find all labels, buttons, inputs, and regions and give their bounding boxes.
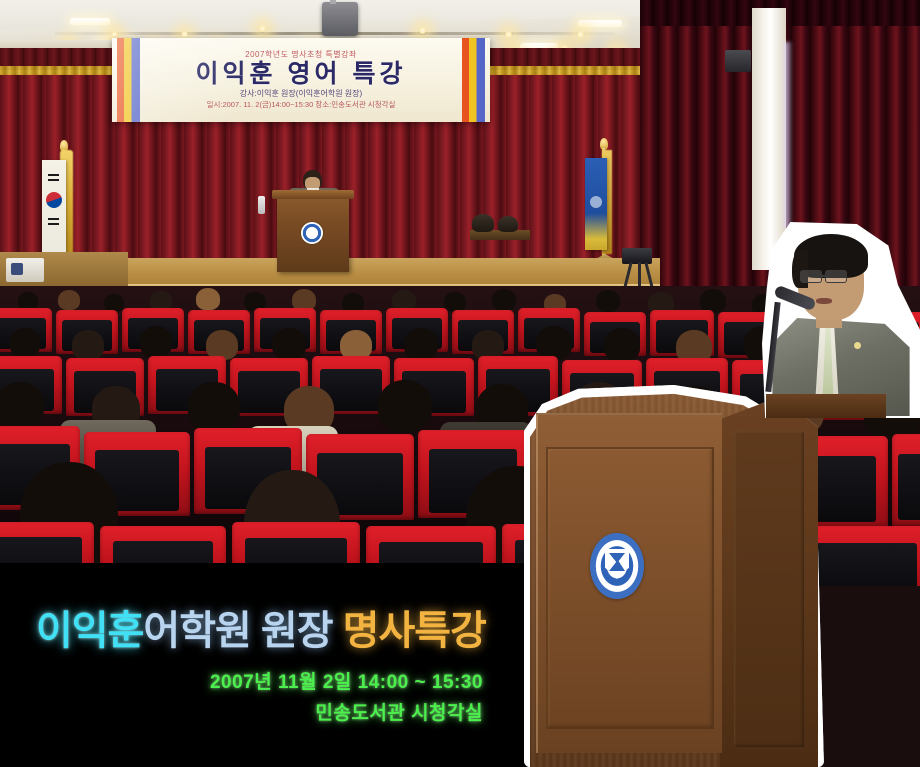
korean-flag <box>42 160 66 258</box>
stage-lectern-top <box>272 190 354 199</box>
stage-lectern <box>277 196 349 272</box>
av-equipment-box <box>6 258 44 282</box>
banner-stripe-right <box>462 38 485 122</box>
speaker-mouth <box>816 298 832 304</box>
speaker-lectern-edge <box>766 394 886 418</box>
event-banner: 2007학년도 명사초청 특별강좌 이익훈 영어 특강 강사:이익훈 원장(이익… <box>112 38 490 122</box>
stage-side-table <box>470 230 530 258</box>
tube-light <box>578 20 622 27</box>
glasses-bridge-icon <box>822 275 826 277</box>
banner-stripe-left <box>117 38 140 122</box>
glasses-right-lens-icon <box>825 270 847 283</box>
caption-venue: 민송도서관 시청각실 <box>315 698 483 725</box>
photo-canvas: 2007학년도 명사초청 특별강좌 이익훈 영어 특강 강사:이익훈 원장(이익… <box>0 0 920 767</box>
inset-speaker-cutout <box>762 222 920 418</box>
caption-title-part1: 이익훈 <box>36 609 143 653</box>
inset-podium-cutout <box>524 385 824 767</box>
caption-datetime: 2007년 11월 2일 14:00 ~ 15:30 <box>210 667 483 694</box>
banner-title: 이익훈 영어 특강 <box>196 61 407 87</box>
caption-title-part3: 명사특강 <box>343 609 486 653</box>
tube-light <box>70 18 110 25</box>
video-camera-icon <box>622 248 652 264</box>
ceiling-projector <box>322 2 358 36</box>
crest-shield-icon <box>605 549 629 579</box>
camera-tripod <box>612 248 664 290</box>
pillar-light-glow <box>784 42 792 228</box>
library-crest-emblem-icon <box>590 533 644 599</box>
lapel-badge <box>854 342 861 349</box>
banner-footer: 일시:2007. 11. 2(금)14:00~15:30 장소:민송도서관 시청… <box>207 100 396 109</box>
podium-side-panel <box>734 431 804 747</box>
wall-speaker-box <box>725 50 751 72</box>
banner-subtitle: 강사:이익훈 원장(이익훈어학원 원장) <box>240 89 362 99</box>
caption-overlay: 이익훈어학원 원장 명사특강 2007년 11월 2일 14:00 ~ 15:3… <box>0 563 533 767</box>
glasses-left-lens-icon <box>800 270 822 283</box>
caption-title-part2: 어학원 원장 <box>143 609 342 653</box>
caption-title: 이익훈어학원 원장 명사특강 <box>36 598 486 656</box>
institution-flag <box>585 158 607 250</box>
water-bottle <box>258 196 265 214</box>
taeguk-circle <box>46 192 62 208</box>
institution-flag-emblem <box>590 196 602 208</box>
library-crest-icon <box>301 222 323 244</box>
banner-eyebrow: 2007학년도 명사초청 특별강좌 <box>245 51 357 60</box>
